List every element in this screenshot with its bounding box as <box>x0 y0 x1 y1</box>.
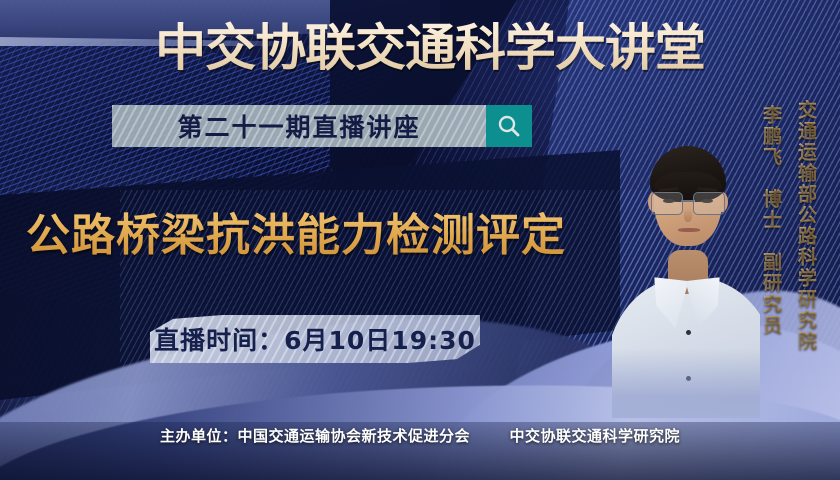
lecture-title: 公路桥梁抗洪能力检测评定 <box>26 205 626 267</box>
portrait-shirt-button-1 <box>686 330 691 335</box>
portrait-nose <box>684 208 692 222</box>
footer-organizer-secondary: 中交协联交通科学研究院 <box>509 427 680 445</box>
portrait-mouth <box>678 228 700 232</box>
live-time-badge: 直播时间：6月10日19:30 <box>150 315 480 363</box>
footer-organizers: 主办单位：中国交通运输协会新技术促进分会 中交协联交通科学研究院 <box>0 425 840 455</box>
footer-organizer-primary: 主办单位：中国交通运输协会新技术促进分会 <box>160 427 470 445</box>
session-bar-background: 第二十一期直播讲座 <box>112 105 486 147</box>
session-bar: 第二十一期直播讲座 <box>112 105 532 147</box>
main-title: 中交协联交通科学大讲堂 <box>134 18 726 80</box>
poster-root: 中交协联交通科学大讲堂 第二十一期直播讲座 公路桥梁抗洪能力检测评定 直播时间：… <box>0 0 840 480</box>
portrait-bottom-fade <box>612 348 760 418</box>
session-label: 第二十一期直播讲座 <box>177 108 420 144</box>
search-icon[interactable] <box>486 105 532 147</box>
speaker-organization: 交通运输部公路科学研究院 <box>793 100 820 352</box>
speaker-portrait <box>612 118 760 418</box>
glasses-lens-right <box>693 192 725 215</box>
speaker-name-title: 李鹏飞 博士 副研究员 <box>758 105 785 336</box>
glasses-lens-left <box>651 192 683 215</box>
live-time-label: 直播时间：6月10日19:30 <box>154 321 476 357</box>
